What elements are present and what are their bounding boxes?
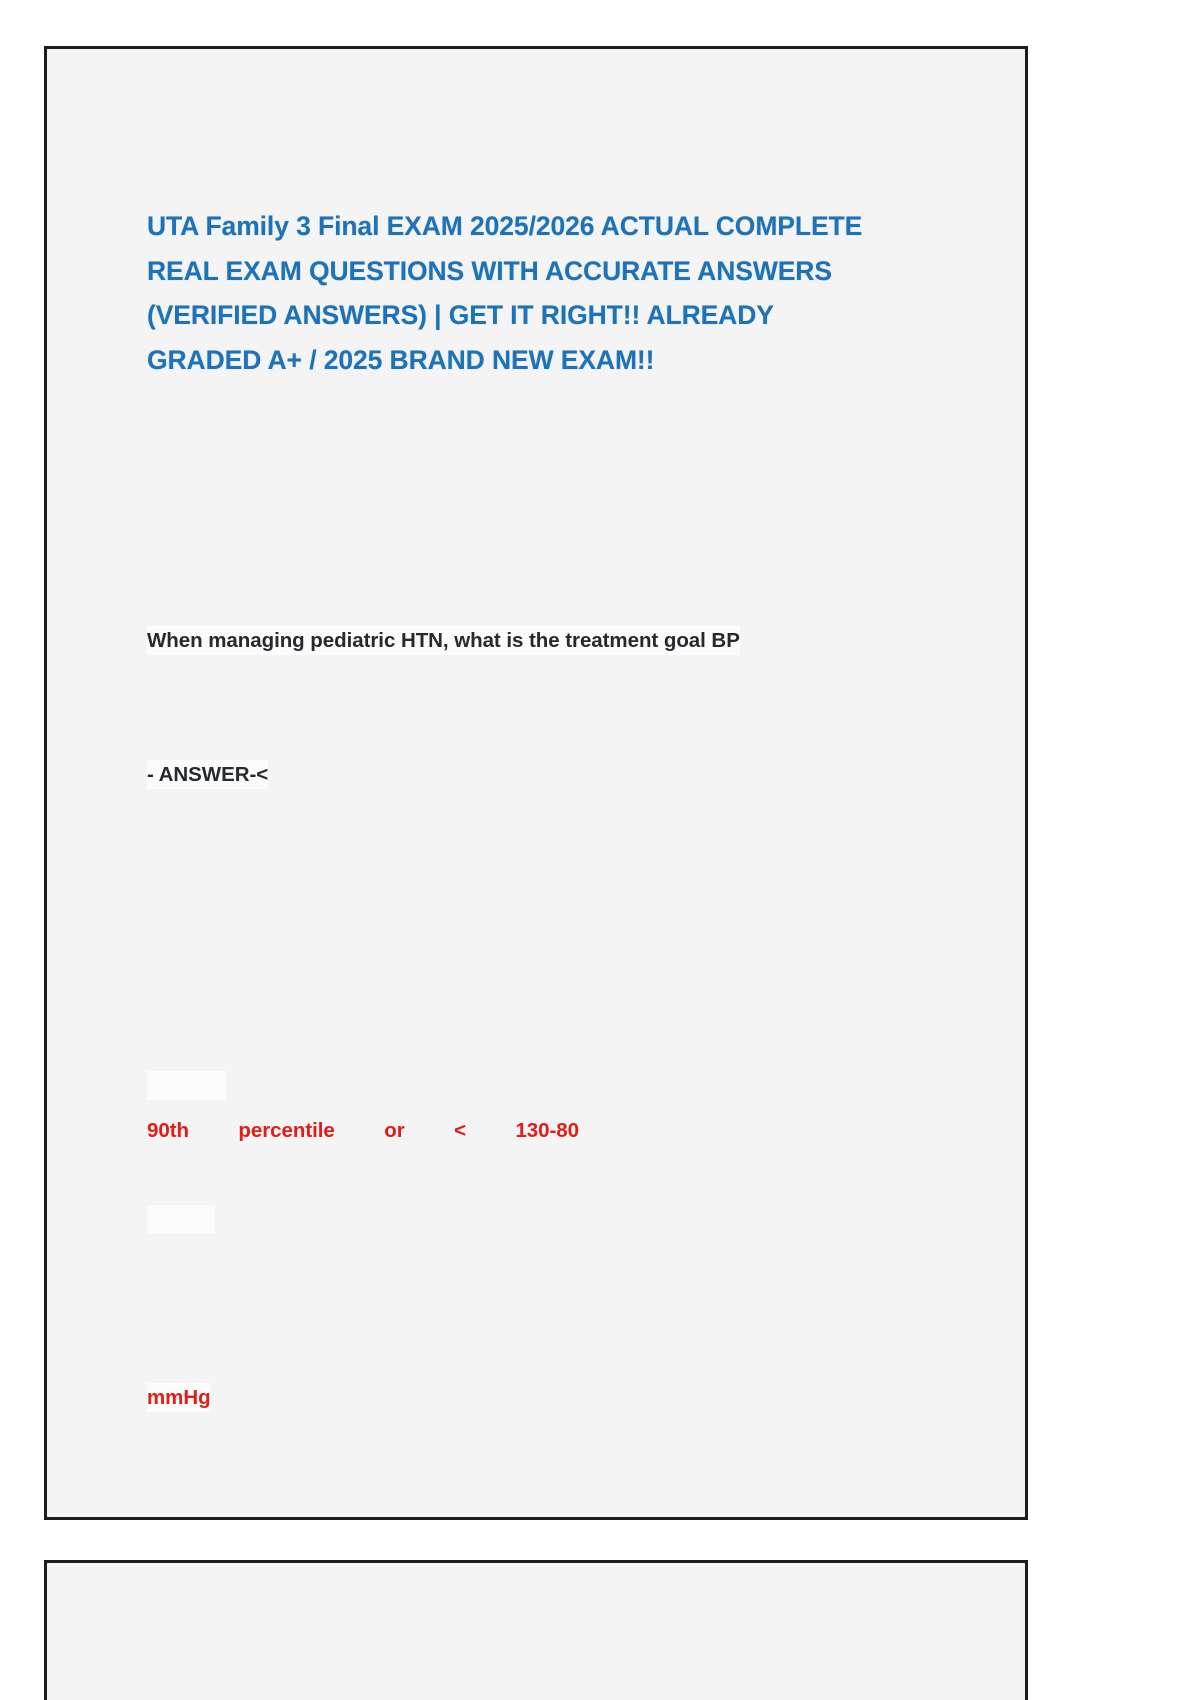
answer-word: percentile bbox=[238, 1109, 334, 1154]
screenshot-root: UTA Family 3 Final EXAM 2025/2026 ACTUAL… bbox=[0, 0, 1200, 1700]
question-text: When managing pediatric HTN, what is the… bbox=[147, 530, 937, 886]
document-page: UTA Family 3 Final EXAM 2025/2026 ACTUAL… bbox=[44, 46, 1028, 1520]
title-line: (VERIFIED ANSWERS) | GET IT RIGHT!! ALRE… bbox=[147, 293, 887, 338]
document-content: UTA Family 3 Final EXAM 2025/2026 ACTUAL… bbox=[147, 204, 937, 1700]
title-line: UTA Family 3 Final EXAM 2025/2026 ACTUAL… bbox=[147, 204, 887, 249]
answer-line-justified: 90th percentile or < 130-80 bbox=[147, 1109, 579, 1154]
answer-text: 90th percentile or < 130-80 mmHg bbox=[147, 886, 937, 1509]
answer-word: < bbox=[454, 1109, 466, 1154]
question-line: When managing pediatric HTN, what is the… bbox=[147, 626, 740, 655]
qa-block-1: When managing pediatric HTN, what is the… bbox=[147, 530, 937, 1509]
page-title: UTA Family 3 Final EXAM 2025/2026 ACTUAL… bbox=[147, 204, 887, 382]
next-document-page bbox=[44, 1560, 1028, 1700]
answer-line: mmHg bbox=[147, 1383, 211, 1412]
title-line: GRADED A+ / 2025 BRAND NEW EXAM!! bbox=[147, 338, 887, 383]
answer-word: 90th bbox=[147, 1109, 189, 1154]
title-line: REAL EXAM QUESTIONS WITH ACCURATE ANSWER… bbox=[147, 249, 887, 294]
answer-word: 130-80 bbox=[515, 1109, 579, 1154]
question-line: - ANSWER-< bbox=[147, 760, 268, 789]
answer-word: or bbox=[384, 1109, 404, 1154]
